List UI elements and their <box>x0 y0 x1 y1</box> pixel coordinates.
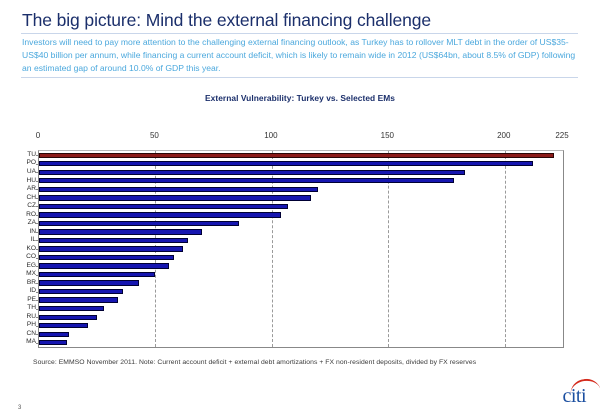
x-tick-label: 150 <box>381 131 394 140</box>
bar-id[interactable] <box>39 289 123 294</box>
category-label: RO <box>26 212 36 219</box>
bar-row[interactable]: UA <box>39 170 563 175</box>
bar-po[interactable] <box>39 161 533 166</box>
page-title: The big picture: Mind the external finan… <box>22 9 578 31</box>
bar-ph[interactable] <box>39 323 88 328</box>
category-label: EG <box>26 263 36 270</box>
bar-row[interactable]: ID <box>39 289 563 294</box>
bar-cz[interactable] <box>39 204 288 209</box>
title-divider <box>21 33 578 34</box>
slide-canvas: The big picture: Mind the external finan… <box>0 0 600 414</box>
category-label: KO <box>26 246 36 253</box>
category-label: CN <box>26 331 36 338</box>
bar-row[interactable]: TH <box>39 306 563 311</box>
bar-ko[interactable] <box>39 246 183 251</box>
bar-ch[interactable] <box>39 195 311 200</box>
bar-row[interactable]: TU <box>39 153 563 158</box>
x-tick-label: 225 <box>555 131 568 140</box>
category-label: AR <box>27 186 36 193</box>
category-label: BR <box>27 280 36 287</box>
bar-ru[interactable] <box>39 315 97 320</box>
bar-th[interactable] <box>39 306 104 311</box>
bar-ma[interactable] <box>39 340 67 345</box>
category-label: ZA <box>28 220 36 227</box>
bar-cn[interactable] <box>39 332 69 337</box>
bar-ro[interactable] <box>39 212 281 217</box>
citi-arc-icon <box>569 377 600 397</box>
bar-br[interactable] <box>39 280 139 285</box>
bar-row[interactable]: RU <box>39 315 563 320</box>
bar-in[interactable] <box>39 229 202 234</box>
bar-row[interactable]: PH <box>39 323 563 328</box>
bar-row[interactable]: AR <box>39 187 563 192</box>
bar-tu[interactable] <box>39 153 554 158</box>
source-footnote: Source: EMMSO November 2011. Note: Curre… <box>33 359 578 366</box>
category-label: CO <box>26 254 36 261</box>
bar-mx[interactable] <box>39 272 155 277</box>
bar-ar[interactable] <box>39 187 318 192</box>
bar-co[interactable] <box>39 255 174 260</box>
bar-row[interactable]: PE <box>39 297 563 302</box>
chart-title: External Vulnerability: Turkey vs. Selec… <box>0 93 600 103</box>
bar-row[interactable]: KO <box>39 246 563 251</box>
bar-hu[interactable] <box>39 178 454 183</box>
x-tick-label: 200 <box>497 131 510 140</box>
page-number: 3 <box>18 405 21 411</box>
bar-row[interactable]: ZA <box>39 221 563 226</box>
category-label: ID <box>29 288 36 295</box>
citi-logo: citi <box>562 385 586 408</box>
plot-area: TUPOUAHUARCHCZROZAINILKOCOEGMXBRIDPETHRU… <box>38 150 564 348</box>
bar-row[interactable]: IN <box>39 229 563 234</box>
bar-row[interactable]: CO <box>39 255 563 260</box>
category-label: PE <box>27 297 36 304</box>
category-label: IN <box>29 229 36 236</box>
bar-row[interactable]: HU <box>39 178 563 183</box>
bar-za[interactable] <box>39 221 239 226</box>
bar-il[interactable] <box>39 238 188 243</box>
bar-row[interactable]: CN <box>39 332 563 337</box>
x-tick-label: 0 <box>36 131 40 140</box>
subtitle-divider <box>21 77 578 78</box>
bar-row[interactable]: EG <box>39 263 563 268</box>
chart-container: 050100150200225 TUPOUAHUARCHCZROZAINILKO… <box>18 130 582 352</box>
bar-row[interactable]: IL <box>39 238 563 243</box>
category-label: TH <box>27 305 36 312</box>
category-label: CH <box>26 195 36 202</box>
bar-row[interactable]: CH <box>39 195 563 200</box>
bar-row[interactable]: BR <box>39 280 563 285</box>
bar-row[interactable]: RO <box>39 212 563 217</box>
category-label: HU <box>26 178 36 185</box>
subtitle-text: Investors will need to pay more attentio… <box>22 36 578 76</box>
bar-eg[interactable] <box>39 263 169 268</box>
category-label: MX <box>26 271 36 278</box>
x-axis-labels: 050100150200225 <box>18 130 582 148</box>
category-label: MA <box>26 339 36 346</box>
bar-row[interactable]: CZ <box>39 204 563 209</box>
bar-row[interactable]: MX <box>39 272 563 277</box>
category-label: TU <box>27 152 36 159</box>
category-label: PH <box>27 322 36 329</box>
category-label: RU <box>26 314 36 321</box>
bar-row[interactable]: PO <box>39 161 563 166</box>
bar-pe[interactable] <box>39 297 118 302</box>
x-tick-label: 100 <box>264 131 277 140</box>
category-label: CZ <box>27 203 36 210</box>
x-tick-label: 50 <box>150 131 159 140</box>
category-label: PO <box>26 160 36 167</box>
bar-ua[interactable] <box>39 170 465 175</box>
category-label: UA <box>27 169 36 176</box>
bar-row[interactable]: MA <box>39 340 563 345</box>
